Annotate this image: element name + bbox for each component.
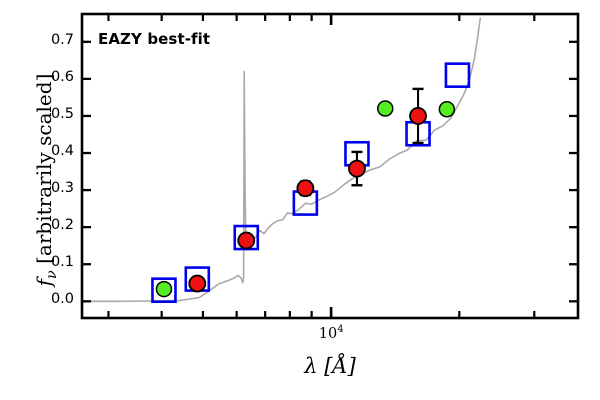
axes-frame-and-ticks — [82, 14, 578, 318]
y-axis-label-symbol: f — [32, 279, 56, 286]
y-axis-label-subscript: ν — [44, 270, 60, 279]
red-circle-markers-group — [189, 108, 426, 292]
x-axis-label-unit: [Å] — [324, 354, 356, 378]
x-axis-label-symbol: λ — [304, 354, 317, 378]
plot-area — [0, 0, 600, 400]
y-axis-label: fν [arbitrarily scaled] — [32, 30, 60, 330]
x-tick-label: 104 — [301, 324, 361, 342]
y-axis-label-unit-space — [32, 264, 56, 270]
y-axis-label-unit: [arbitrarily scaled] — [32, 74, 56, 264]
x-axis-label: λ [Å] — [82, 354, 578, 378]
spectrum-line-group — [82, 18, 480, 301]
legend-label: EAZY best-fit — [98, 30, 210, 48]
figure-canvas: 0.00.10.20.30.40.50.60.7 104 EAZY best-f… — [0, 0, 600, 400]
